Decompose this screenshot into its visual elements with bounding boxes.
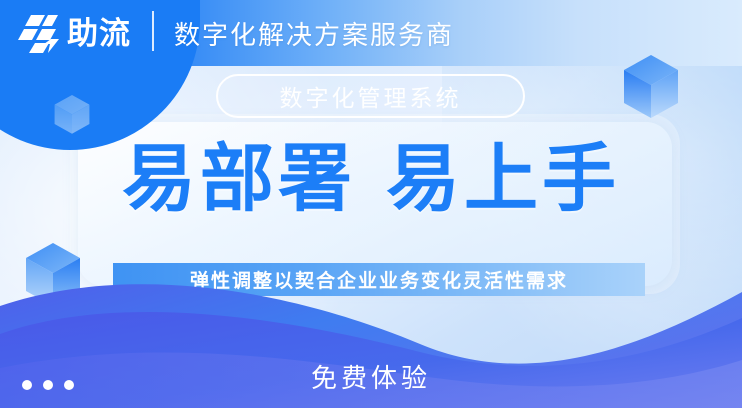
- brand-logo[interactable]: 助流: [18, 10, 131, 56]
- carousel-dot-2[interactable]: [43, 380, 53, 390]
- zhuliu-flow-mark-icon: [18, 13, 62, 53]
- brand-divider: [152, 11, 154, 51]
- hero-headline-right: 易上手: [386, 137, 620, 220]
- hero-headline: 易部署易上手: [0, 142, 742, 216]
- carousel-dot-1[interactable]: [22, 380, 32, 390]
- system-badge: 数字化管理系统: [216, 74, 525, 118]
- brand-tagline: 数字化解决方案服务商: [174, 15, 454, 52]
- hero-headline-left: 易部署: [122, 137, 356, 220]
- carousel-dots[interactable]: [22, 380, 74, 390]
- carousel-dot-3[interactable]: [64, 380, 74, 390]
- cta-free-trial[interactable]: 免费体验: [0, 358, 742, 395]
- brand-name: 助流: [67, 18, 131, 49]
- system-badge-label: 数字化管理系统: [280, 79, 462, 113]
- promo-banner: 助流 数字化解决方案服务商 数字化管理系统 易部署易上手 弹性调整以契合企业业务…: [0, 0, 742, 408]
